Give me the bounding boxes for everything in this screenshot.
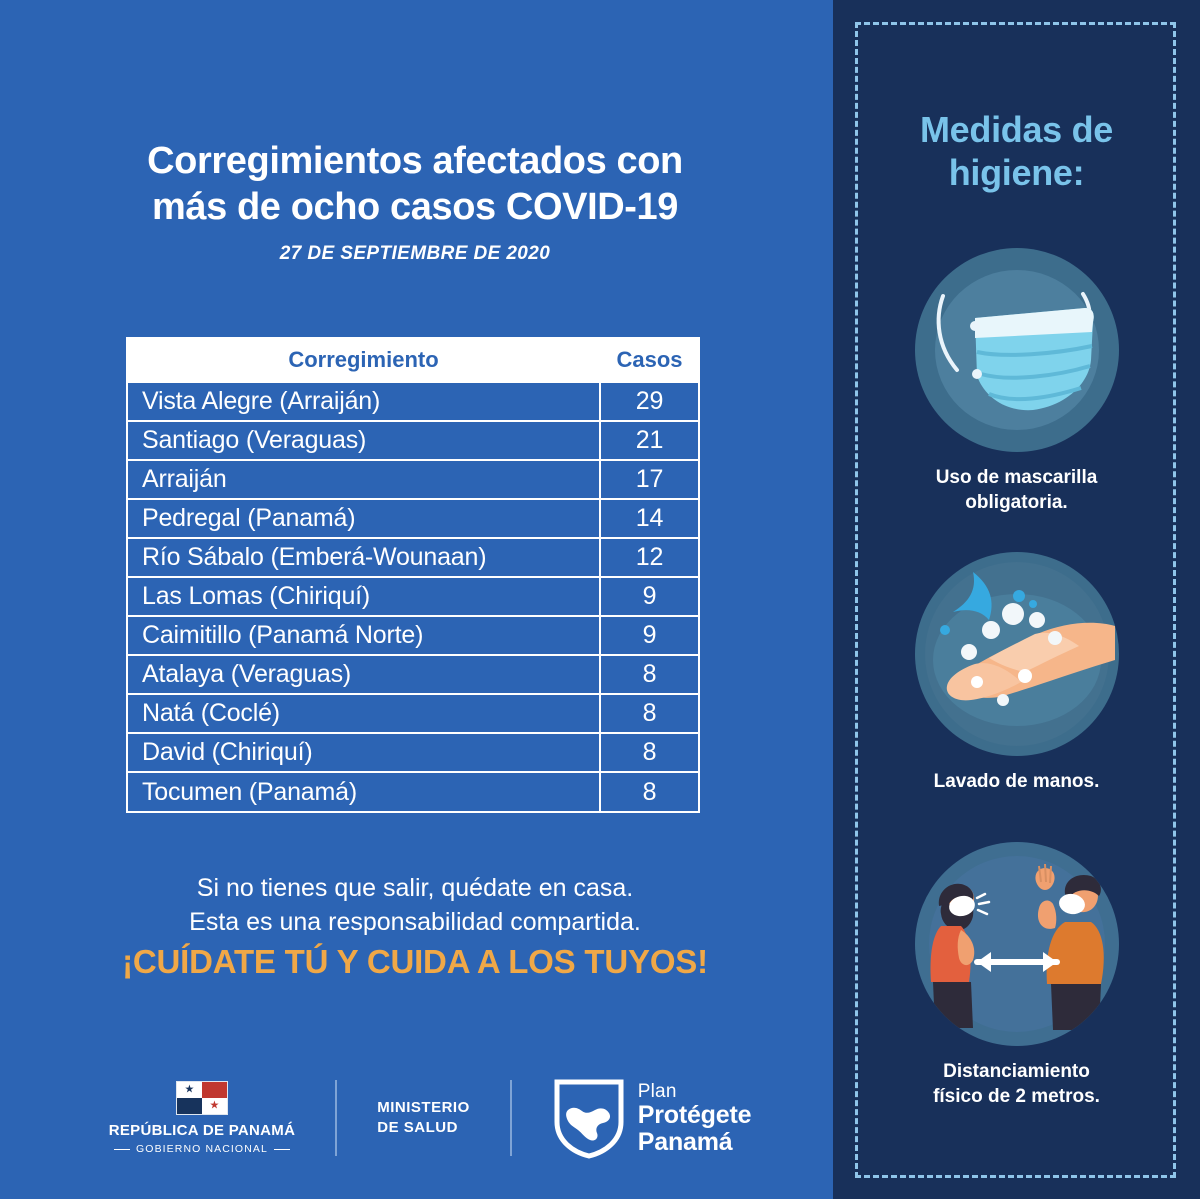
- ministry-line-1: MINISTERIO: [377, 1098, 470, 1118]
- hygiene-title-line-1: Medidas de: [833, 108, 1200, 151]
- cell-corregimiento: Santiago (Veraguas): [128, 421, 600, 460]
- plan-text-block: Plan Protégete Panamá: [638, 1082, 752, 1155]
- caption-line-2: físico de 2 metros.: [833, 1085, 1200, 1110]
- table-row: Vista Alegre (Arraiján) 29: [128, 382, 698, 421]
- hygiene-measure-distancing: Distanciamiento físico de 2 metros.: [833, 842, 1200, 1109]
- cell-corregimiento: Vista Alegre (Arraiján): [128, 382, 600, 421]
- table-row: Atalaya (Veraguas) 8: [128, 655, 698, 694]
- table-row: Río Sábalo (Emberá-Wounaan) 12: [128, 538, 698, 577]
- flag-quadrant-red: [202, 1082, 227, 1098]
- cell-casos: 29: [600, 382, 698, 421]
- page-title: Corregimientos afectados con más de ocho…: [40, 138, 790, 231]
- footer-logos: ★ ★ REPÚBLICA DE PANAMÁ GOBIERNO NACIONA…: [60, 1068, 800, 1168]
- plan-title-line-2: Panamá: [638, 1130, 752, 1155]
- cell-corregimiento: David (Chiriquí): [128, 733, 600, 772]
- cell-casos: 8: [600, 733, 698, 772]
- divider-dash-right: [274, 1149, 290, 1150]
- republic-of-panama-logo: ★ ★ REPÚBLICA DE PANAMÁ GOBIERNO NACIONA…: [109, 1081, 296, 1155]
- campaign-slogan: ¡CUÍDATE TÚ Y CUIDA A LOS TUYOS!: [40, 943, 790, 981]
- hygiene-title-line-2: higiene:: [833, 151, 1200, 194]
- table-row: David (Chiriquí) 8: [128, 733, 698, 772]
- table-row: Natá (Coclé) 8: [128, 694, 698, 733]
- cell-corregimiento: Atalaya (Veraguas): [128, 655, 600, 694]
- table-header: Corregimiento Casos: [128, 339, 698, 382]
- plan-label: Plan: [638, 1082, 752, 1101]
- column-header-corregimiento: Corregimiento: [128, 339, 600, 382]
- hygiene-caption-mask: Uso de mascarilla obligatoria.: [833, 466, 1200, 515]
- panama-flag-icon: ★ ★: [176, 1081, 228, 1115]
- ministry-of-health-logo: MINISTERIO DE SALUD: [377, 1098, 470, 1139]
- page-title-line-1: Corregimientos afectados con: [40, 138, 790, 184]
- hygiene-measure-handwashing: Lavado de manos.: [833, 552, 1200, 795]
- column-header-casos: Casos: [600, 339, 698, 382]
- table-row: Tocumen (Panamá) 8: [128, 772, 698, 811]
- republic-subtitle: GOBIERNO NACIONAL: [136, 1143, 268, 1155]
- cell-casos: 8: [600, 694, 698, 733]
- footer-divider-1: [335, 1080, 337, 1156]
- public-message: Si no tienes que salir, quédate en casa.…: [40, 872, 790, 940]
- star-icon: ★: [210, 1101, 220, 1112]
- page-title-line-2: más de ocho casos COVID-19: [40, 184, 790, 230]
- report-date: 27 DE SEPTIEMBRE DE 2020: [40, 243, 790, 265]
- table-row: Caimitillo (Panamá Norte) 9: [128, 616, 698, 655]
- cell-casos: 8: [600, 655, 698, 694]
- cell-casos: 12: [600, 538, 698, 577]
- hygiene-measure-mask: Uso de mascarilla obligatoria.: [833, 248, 1200, 515]
- caption-line-2: obligatoria.: [833, 491, 1200, 516]
- social-distancing-icon: [915, 842, 1119, 1046]
- flag-quadrant-blue: [177, 1098, 202, 1114]
- cell-corregimiento: Pedregal (Panamá): [128, 499, 600, 538]
- cell-casos: 9: [600, 616, 698, 655]
- cell-casos: 8: [600, 772, 698, 811]
- cell-casos: 17: [600, 460, 698, 499]
- cases-table-container: Corregimiento Casos Vista Alegre (Arraij…: [126, 337, 700, 813]
- hygiene-panel-title: Medidas de higiene:: [833, 108, 1200, 194]
- cell-casos: 21: [600, 421, 698, 460]
- republic-subtitle-wrap: GOBIERNO NACIONAL: [114, 1143, 290, 1155]
- table-row: Arraiján 17: [128, 460, 698, 499]
- left-content-column: Corregimientos afectados con más de ocho…: [0, 0, 833, 1199]
- table-row: Santiago (Veraguas) 21: [128, 421, 698, 460]
- message-line-2: Esta es una responsabilidad compartida.: [40, 906, 790, 940]
- hygiene-caption-distancing: Distanciamiento físico de 2 metros.: [833, 1060, 1200, 1109]
- hygiene-caption-handwashing: Lavado de manos.: [833, 770, 1200, 795]
- caption-line-1: Distanciamiento: [833, 1060, 1200, 1085]
- face-mask-icon: [915, 248, 1119, 452]
- table-row: Las Lomas (Chiriquí) 9: [128, 577, 698, 616]
- table-header-row: Corregimiento Casos: [128, 339, 698, 382]
- republic-name: REPÚBLICA DE PANAMÁ: [109, 1122, 296, 1139]
- footer-divider-2: [510, 1080, 512, 1156]
- covid-infographic-poster: Corregimientos afectados con más de ocho…: [0, 0, 1200, 1199]
- cell-corregimiento: Las Lomas (Chiriquí): [128, 577, 600, 616]
- ministry-line-2: DE SALUD: [377, 1118, 470, 1138]
- plan-title-line-1: Protégete: [638, 1103, 752, 1128]
- shield-panama-map-icon: [552, 1076, 626, 1160]
- flag-quadrant-white-star-red: ★: [202, 1098, 227, 1114]
- caption-line-1: Uso de mascarilla: [833, 466, 1200, 491]
- caption-line-1: Lavado de manos.: [833, 770, 1200, 795]
- cell-corregimiento: Arraiján: [128, 460, 600, 499]
- cell-corregimiento: Natá (Coclé): [128, 694, 600, 733]
- plan-protegete-panama-logo: Plan Protégete Panamá: [552, 1076, 752, 1160]
- table-row: Pedregal (Panamá) 14: [128, 499, 698, 538]
- cell-casos: 9: [600, 577, 698, 616]
- cell-corregimiento: Tocumen (Panamá): [128, 772, 600, 811]
- hygiene-measures-panel: Medidas de higiene: U: [833, 0, 1200, 1199]
- handwashing-illustration: [915, 552, 1119, 756]
- divider-dash-left: [114, 1149, 130, 1150]
- face-mask-illustration: [915, 248, 1119, 452]
- cases-table: Corregimiento Casos Vista Alegre (Arraij…: [128, 339, 698, 811]
- message-line-1: Si no tienes que salir, quédate en casa.: [40, 872, 790, 906]
- cell-corregimiento: Río Sábalo (Emberá-Wounaan): [128, 538, 600, 577]
- table-body: Vista Alegre (Arraiján) 29 Santiago (Ver…: [128, 382, 698, 811]
- flag-quadrant-white-star-blue: ★: [177, 1082, 202, 1098]
- social-distancing-illustration: [915, 842, 1119, 1046]
- cell-corregimiento: Caimitillo (Panamá Norte): [128, 616, 600, 655]
- star-icon: ★: [185, 1085, 195, 1096]
- handwashing-icon: [915, 552, 1119, 756]
- cell-casos: 14: [600, 499, 698, 538]
